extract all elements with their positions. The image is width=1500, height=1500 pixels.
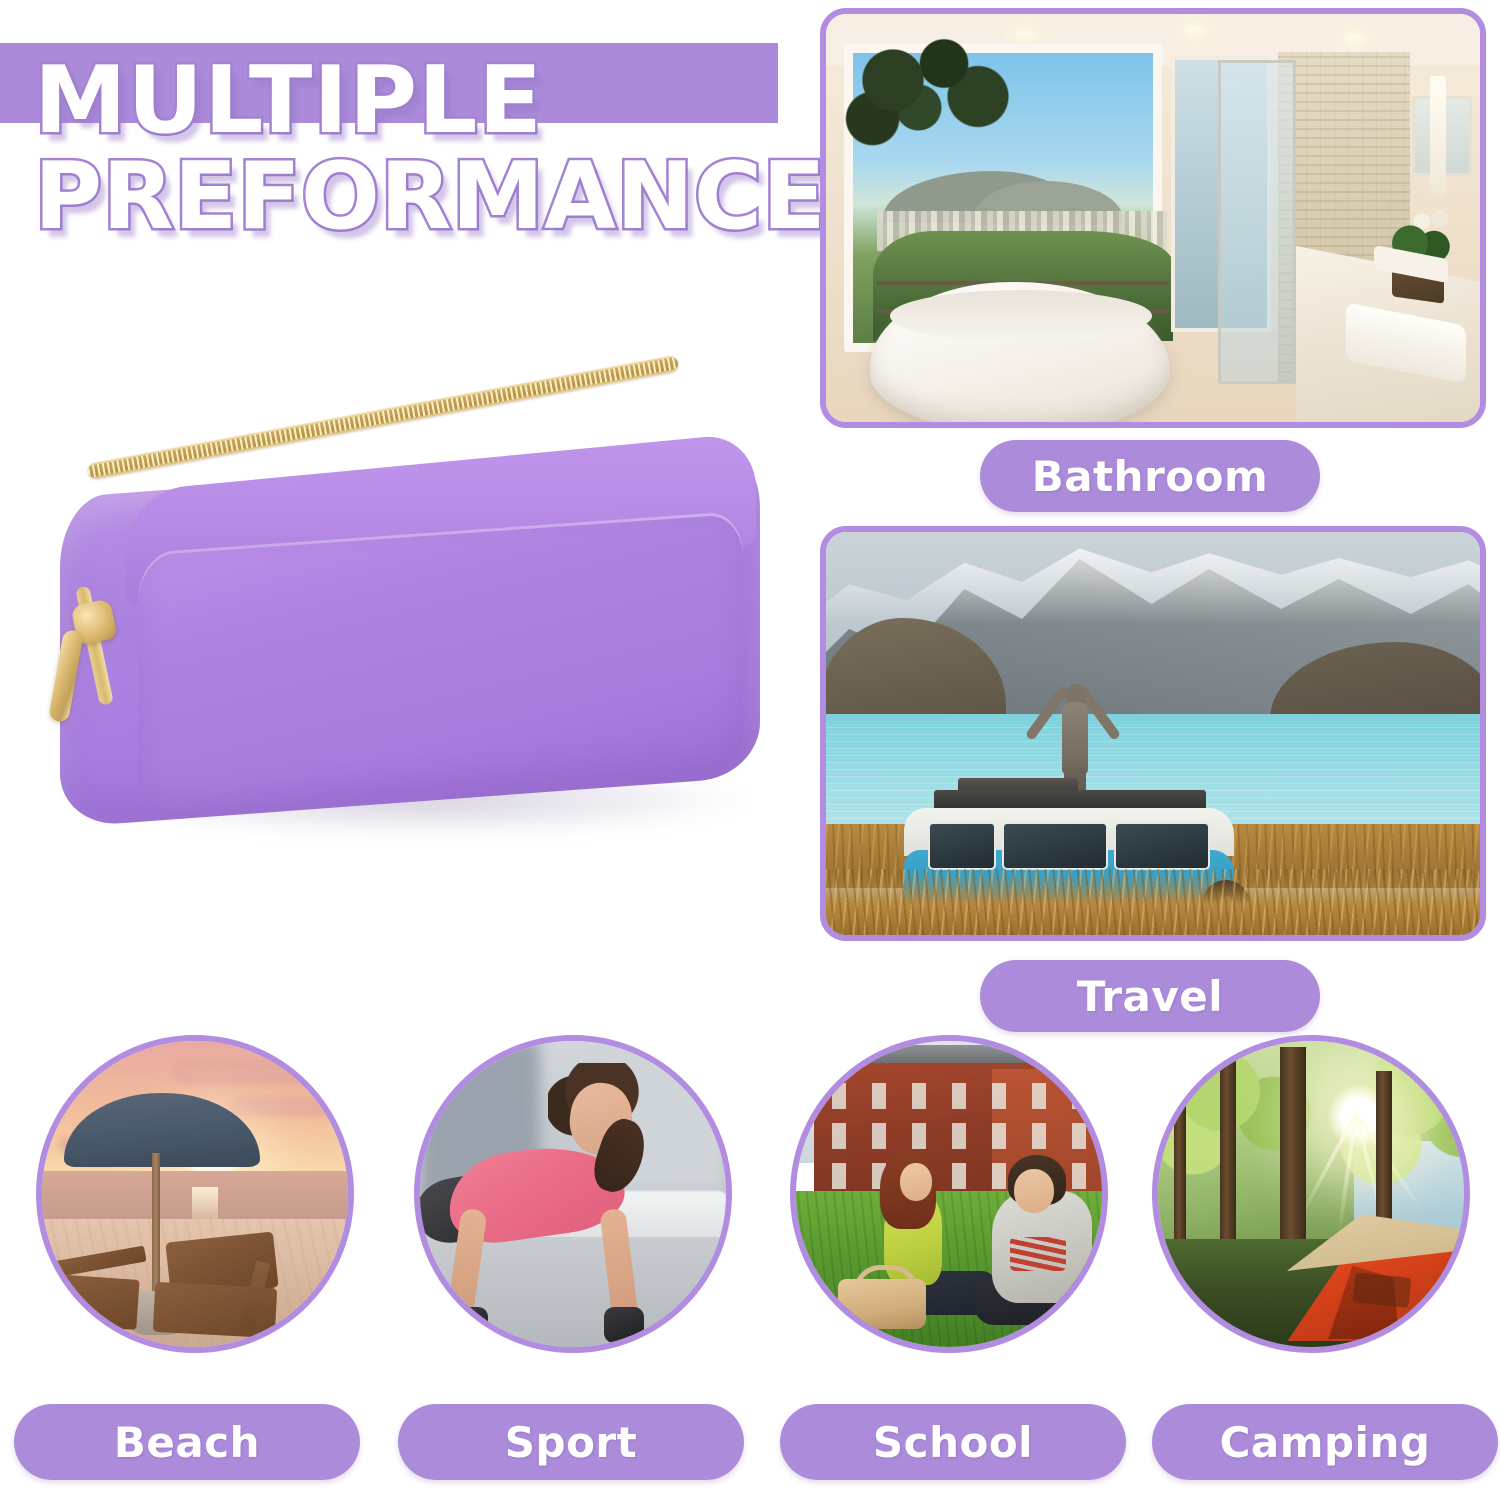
product-image bbox=[30, 420, 810, 890]
title-line-1: MULTIPLE bbox=[34, 52, 894, 148]
van-window bbox=[928, 822, 996, 870]
scene-photo-beach bbox=[36, 1035, 354, 1353]
scene-photo-camping bbox=[1152, 1035, 1470, 1353]
scene-label-beach: Beach bbox=[14, 1404, 360, 1480]
scene-label-camping: Camping bbox=[1152, 1404, 1498, 1480]
scene-label-text: Sport bbox=[505, 1418, 637, 1467]
workout-glove bbox=[448, 1307, 488, 1343]
camping-scene bbox=[1158, 1041, 1464, 1347]
scene-label-school: School bbox=[780, 1404, 1126, 1480]
workout-glove bbox=[604, 1307, 644, 1343]
student-bag bbox=[838, 1279, 926, 1329]
scene-photo-travel bbox=[820, 526, 1486, 941]
tent-mesh-window bbox=[1353, 1272, 1412, 1308]
cloud bbox=[172, 1059, 322, 1085]
vanity-light-bar bbox=[1430, 76, 1446, 196]
title-line-2: PREFORMANCE bbox=[34, 148, 894, 244]
scene-label-text: Travel bbox=[1077, 972, 1223, 1021]
school-scene bbox=[796, 1041, 1102, 1347]
scene-label-text: Camping bbox=[1220, 1418, 1431, 1467]
foreground-grass-texture bbox=[826, 869, 1480, 935]
scene-photo-school bbox=[790, 1035, 1108, 1353]
page-title: MULTIPLE PREFORMANCE bbox=[34, 52, 894, 244]
person-torso bbox=[1062, 702, 1088, 774]
scene-label-text: School bbox=[873, 1418, 1033, 1467]
cloud bbox=[228, 1097, 348, 1117]
student-boy-face bbox=[1014, 1169, 1054, 1213]
building-roof bbox=[814, 1045, 1100, 1063]
student-girl-face bbox=[900, 1163, 932, 1201]
lounge-chair bbox=[50, 1274, 139, 1330]
ceiling-light-icon bbox=[1346, 34, 1364, 42]
pouch-front-panel bbox=[138, 514, 743, 814]
sport-scene bbox=[420, 1041, 726, 1347]
beach-scene bbox=[42, 1041, 348, 1347]
scene-label-sport: Sport bbox=[398, 1404, 744, 1480]
scene-label-bathroom: Bathroom bbox=[980, 440, 1320, 512]
scene-photo-sport bbox=[414, 1035, 732, 1353]
bathroom-scene bbox=[826, 14, 1480, 422]
ceiling-light-icon bbox=[1186, 26, 1204, 34]
scene-photo-bathroom bbox=[820, 8, 1486, 428]
window-foliage bbox=[842, 36, 1012, 146]
van-window bbox=[1002, 822, 1108, 870]
scene-label-text: Beach bbox=[114, 1418, 260, 1467]
scene-label-text: Bathroom bbox=[1032, 452, 1269, 501]
shower-glass bbox=[1218, 60, 1296, 384]
hoodie-logo bbox=[1010, 1237, 1066, 1271]
van-window bbox=[1114, 822, 1210, 870]
ceiling-light-icon bbox=[1016, 30, 1034, 38]
travel-scene bbox=[826, 532, 1480, 935]
scene-label-travel: Travel bbox=[980, 960, 1320, 1032]
bathtub-rim bbox=[890, 290, 1152, 342]
